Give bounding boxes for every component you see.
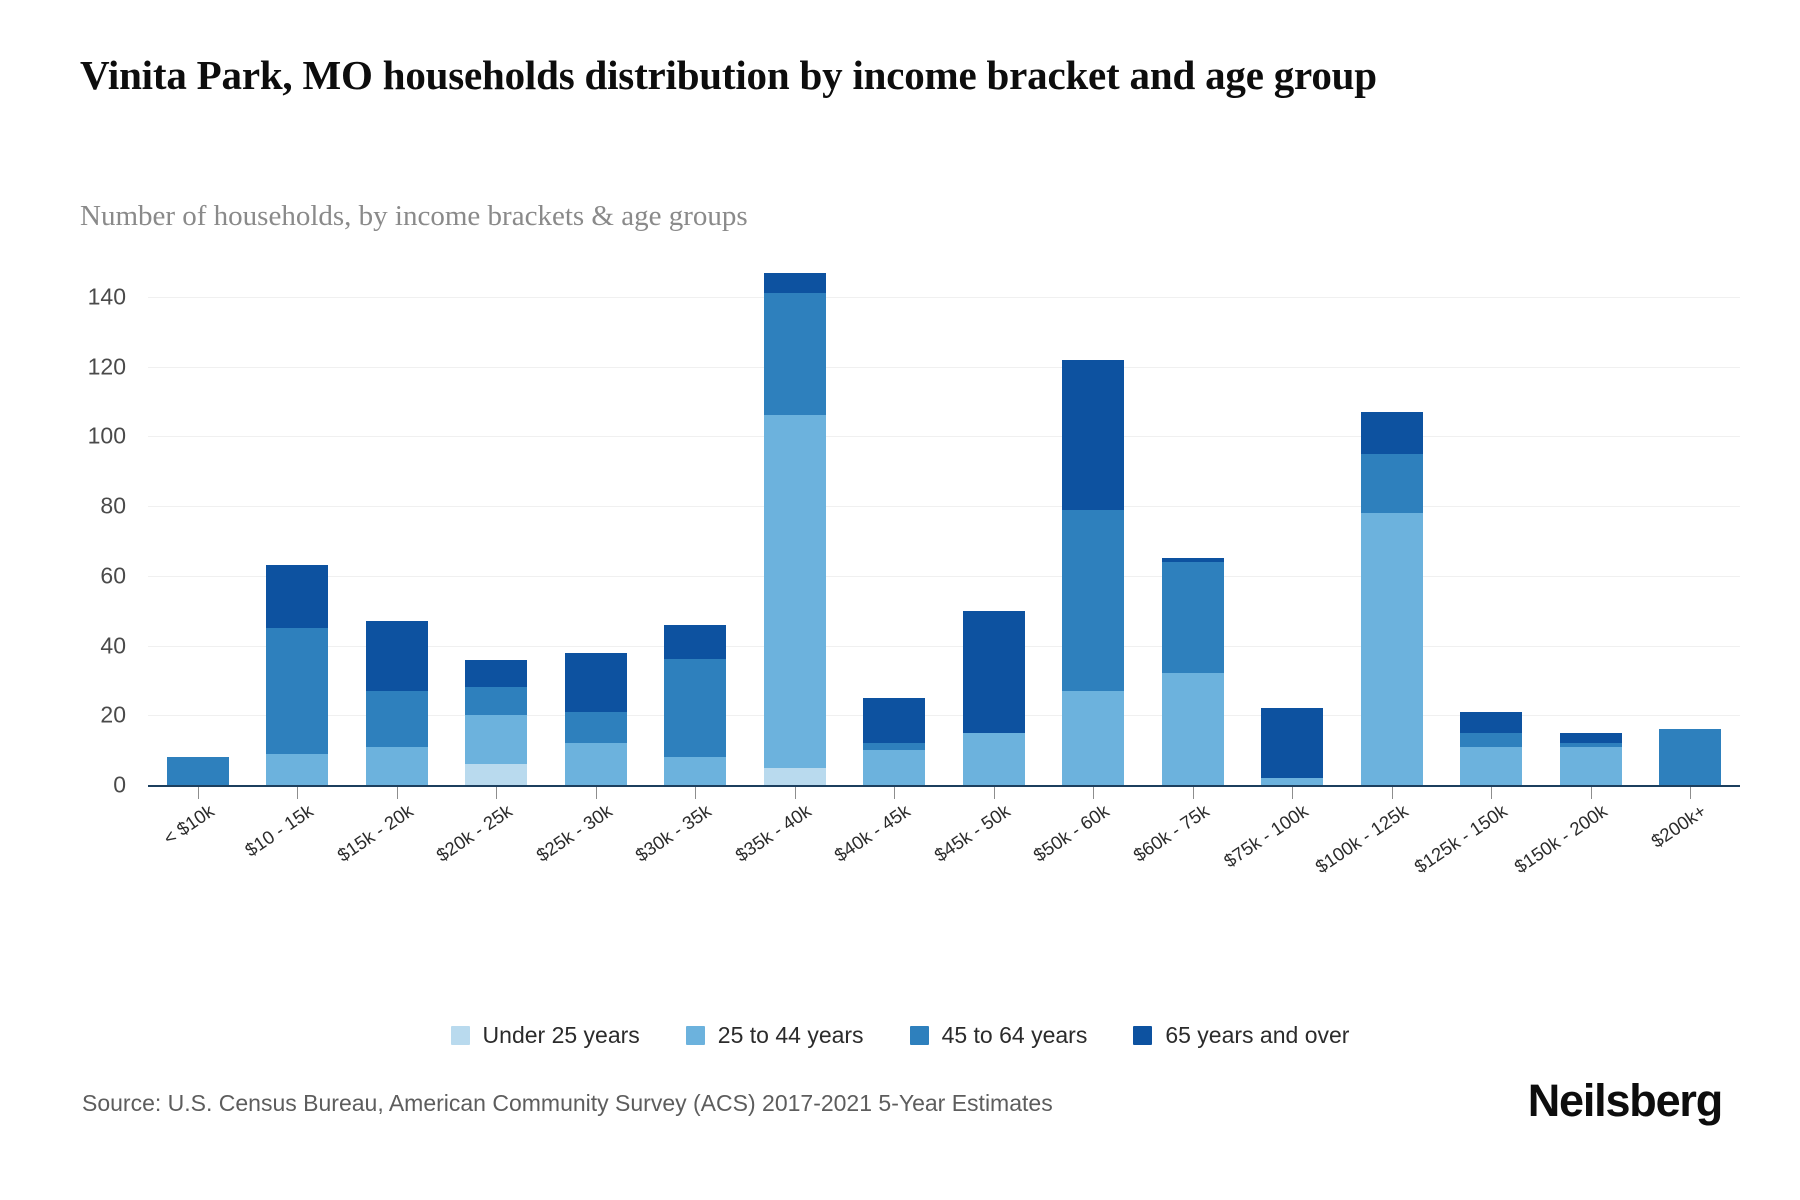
x-axis-line: [148, 785, 1740, 787]
y-axis-tick-label: 40: [100, 632, 126, 659]
bar-segment[interactable]: [1560, 747, 1622, 785]
x-axis-tick: [198, 787, 199, 799]
bar-segment[interactable]: [465, 660, 527, 688]
bar-segment[interactable]: [1062, 691, 1124, 785]
bar-segment[interactable]: [664, 757, 726, 785]
x-axis-tick-label: $15k - 20k: [333, 800, 417, 867]
bar-group[interactable]: [1659, 729, 1721, 785]
x-axis-tick-label: $75k - 100k: [1220, 800, 1312, 872]
legend-item[interactable]: Under 25 years: [451, 1022, 640, 1049]
bar-segment[interactable]: [764, 273, 826, 294]
legend-item[interactable]: 45 to 64 years: [910, 1022, 1088, 1049]
bar-segment[interactable]: [1062, 360, 1124, 510]
x-axis-tick: [1690, 787, 1691, 799]
bar-segment[interactable]: [1560, 733, 1622, 743]
x-axis-tick-label: $40k - 45k: [831, 800, 915, 867]
legend-item-label: 45 to 64 years: [942, 1022, 1088, 1049]
bar-segment[interactable]: [1460, 733, 1522, 747]
bar-group[interactable]: [266, 565, 328, 785]
legend-swatch-icon: [451, 1026, 470, 1045]
x-axis-tick-label: $150k - 200k: [1510, 800, 1611, 878]
bar-group[interactable]: [664, 625, 726, 785]
legend-swatch-icon: [910, 1026, 929, 1045]
bar-group[interactable]: [465, 660, 527, 786]
bar-segment[interactable]: [366, 691, 428, 747]
y-axis-tick-label: 140: [88, 283, 126, 310]
x-axis-tick-label: $30k - 35k: [632, 800, 716, 867]
bar-segment[interactable]: [465, 715, 527, 764]
bar-segment[interactable]: [1162, 562, 1224, 674]
bar-segment[interactable]: [1361, 454, 1423, 513]
bar-segment[interactable]: [1460, 747, 1522, 785]
plot-area: 020406080100120140: [148, 262, 1740, 785]
bar-segment[interactable]: [963, 733, 1025, 785]
x-axis-tick-label: $35k - 40k: [731, 800, 815, 867]
x-axis-tick-label: $45k - 50k: [930, 800, 1014, 867]
chart-page: Vinita Park, MO households distribution …: [0, 0, 1800, 1200]
y-axis-tick-label: 0: [113, 772, 126, 799]
x-axis-tick-label: $20k - 25k: [433, 800, 517, 867]
y-axis-tick-label: 120: [88, 353, 126, 380]
chart-subtitle: Number of households, by income brackets…: [80, 200, 1580, 233]
y-axis-tick-label: 20: [100, 702, 126, 729]
bar-group[interactable]: [167, 757, 229, 785]
x-axis-tick: [1193, 787, 1194, 799]
bar-group[interactable]: [963, 611, 1025, 785]
bar-segment[interactable]: [764, 293, 826, 415]
bar-segment[interactable]: [465, 764, 527, 785]
x-axis-tick: [496, 787, 497, 799]
bar-segment[interactable]: [266, 628, 328, 754]
bar-group[interactable]: [1261, 708, 1323, 785]
bar-group[interactable]: [1361, 412, 1423, 785]
bar-segment[interactable]: [1062, 510, 1124, 691]
bar-segment[interactable]: [366, 747, 428, 785]
gridline: [148, 297, 1740, 298]
x-axis-tick: [1093, 787, 1094, 799]
bar-segment[interactable]: [664, 625, 726, 660]
legend-item[interactable]: 65 years and over: [1133, 1022, 1349, 1049]
legend-item-label: 25 to 44 years: [718, 1022, 864, 1049]
bar-segment[interactable]: [863, 698, 925, 743]
x-axis-tick-label: $125k - 150k: [1411, 800, 1512, 878]
y-axis-tick-label: 80: [100, 493, 126, 520]
x-axis-tick: [795, 787, 796, 799]
bar-segment[interactable]: [366, 621, 428, 691]
x-axis-tick: [1491, 787, 1492, 799]
gridline: [148, 436, 1740, 437]
x-axis-tick: [894, 787, 895, 799]
bar-segment[interactable]: [1361, 513, 1423, 785]
bar-segment[interactable]: [167, 757, 229, 785]
x-axis-tick: [297, 787, 298, 799]
bar-segment[interactable]: [764, 768, 826, 785]
gridline: [148, 506, 1740, 507]
bar-segment[interactable]: [1261, 708, 1323, 778]
bar-group[interactable]: [1162, 558, 1224, 785]
x-axis-tick: [1292, 787, 1293, 799]
bar-segment[interactable]: [664, 659, 726, 757]
gridline: [148, 367, 1740, 368]
bar-segment[interactable]: [465, 687, 527, 715]
bar-segment[interactable]: [1261, 778, 1323, 785]
x-axis-tick-label: < $10k: [159, 800, 218, 850]
bar-segment[interactable]: [1361, 412, 1423, 454]
legend-swatch-icon: [686, 1026, 705, 1045]
bar-segment[interactable]: [863, 743, 925, 750]
bar-group[interactable]: [1062, 360, 1124, 785]
bar-segment[interactable]: [565, 653, 627, 712]
y-axis-tick-label: 100: [88, 423, 126, 450]
x-axis-tick-label: $60k - 75k: [1129, 800, 1213, 867]
x-axis-tick-label: $50k - 60k: [1030, 800, 1114, 867]
x-axis-tick-label: $200k+: [1647, 800, 1710, 852]
x-axis-tick-label: $10 - 15k: [241, 800, 317, 861]
bar-segment[interactable]: [266, 754, 328, 785]
y-axis-tick-label: 60: [100, 562, 126, 589]
bar-group[interactable]: [1560, 733, 1622, 785]
bar-segment[interactable]: [1460, 712, 1522, 733]
bar-group[interactable]: [764, 273, 826, 786]
bar-segment[interactable]: [863, 750, 925, 785]
gridline: [148, 576, 1740, 577]
x-axis-tick: [397, 787, 398, 799]
x-axis-tick-label: $100k - 125k: [1311, 800, 1412, 878]
x-axis-tick: [695, 787, 696, 799]
bar-segment[interactable]: [266, 565, 328, 628]
bar-segment[interactable]: [963, 611, 1025, 733]
bar-group[interactable]: [366, 621, 428, 785]
x-axis-tick: [1591, 787, 1592, 799]
legend-item-label: Under 25 years: [483, 1022, 640, 1049]
x-axis-tick-label: $25k - 30k: [532, 800, 616, 867]
source-note: Source: U.S. Census Bureau, American Com…: [82, 1090, 1053, 1117]
bar-segment[interactable]: [1659, 729, 1721, 785]
bar-segment[interactable]: [565, 743, 627, 785]
bar-group[interactable]: [1460, 712, 1522, 785]
legend-swatch-icon: [1133, 1026, 1152, 1045]
bar-group[interactable]: [565, 653, 627, 785]
x-axis-tick: [994, 787, 995, 799]
bar-segment[interactable]: [764, 415, 826, 767]
bar-group[interactable]: [863, 698, 925, 785]
page-title: Vinita Park, MO households distribution …: [80, 48, 1700, 103]
brand-logo: Neilsberg: [1528, 1075, 1722, 1127]
legend-item[interactable]: 25 to 44 years: [686, 1022, 864, 1049]
bar-segment[interactable]: [1162, 673, 1224, 785]
x-axis-tick: [1392, 787, 1393, 799]
bar-segment[interactable]: [565, 712, 627, 743]
chart-legend: Under 25 years25 to 44 years45 to 64 yea…: [0, 1022, 1800, 1049]
x-axis-tick: [596, 787, 597, 799]
legend-item-label: 65 years and over: [1165, 1022, 1349, 1049]
